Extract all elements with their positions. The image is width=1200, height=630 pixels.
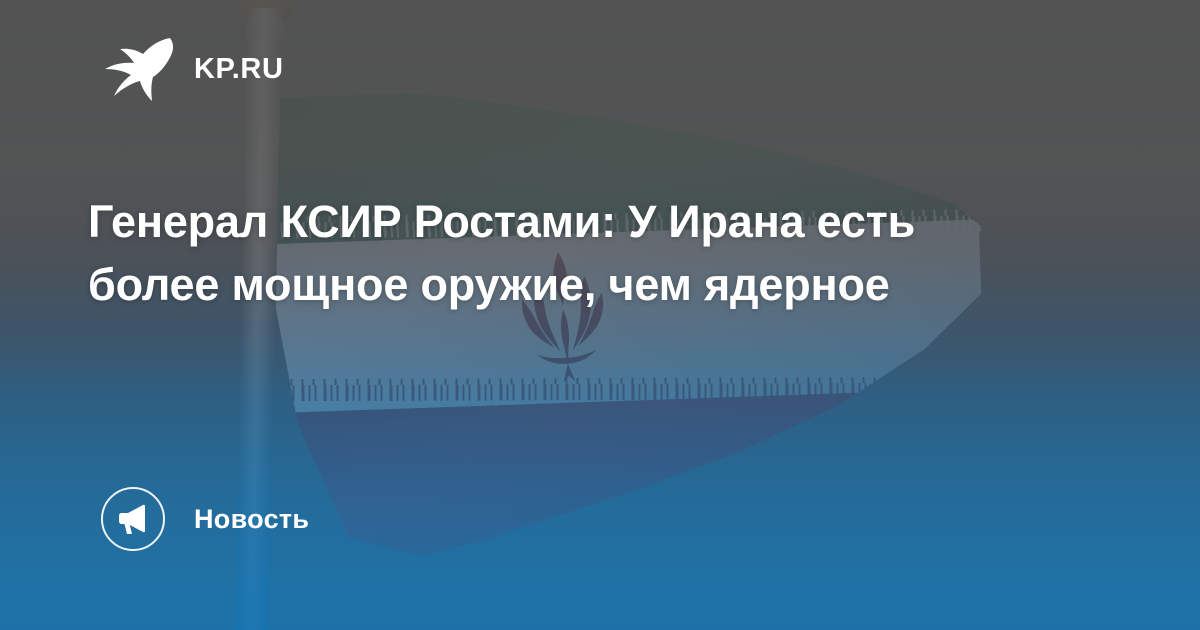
swallow-bird-logo-icon: [104, 36, 176, 102]
social-share-card: KP.RU Генерал КСИР Ростами: У Ирана есть…: [0, 0, 1200, 630]
card-content: KP.RU Генерал КСИР Ростами: У Ирана есть…: [0, 0, 1200, 630]
content-type-badge[interactable]: Новость: [101, 487, 309, 551]
badge-label: Новость: [194, 506, 309, 533]
brand-name: KP.RU: [194, 55, 284, 84]
brand-lockup[interactable]: KP.RU: [104, 36, 284, 102]
megaphone-icon: [101, 487, 165, 551]
headline: Генерал КСИР Ростами: У Ирана есть более…: [88, 190, 1018, 316]
